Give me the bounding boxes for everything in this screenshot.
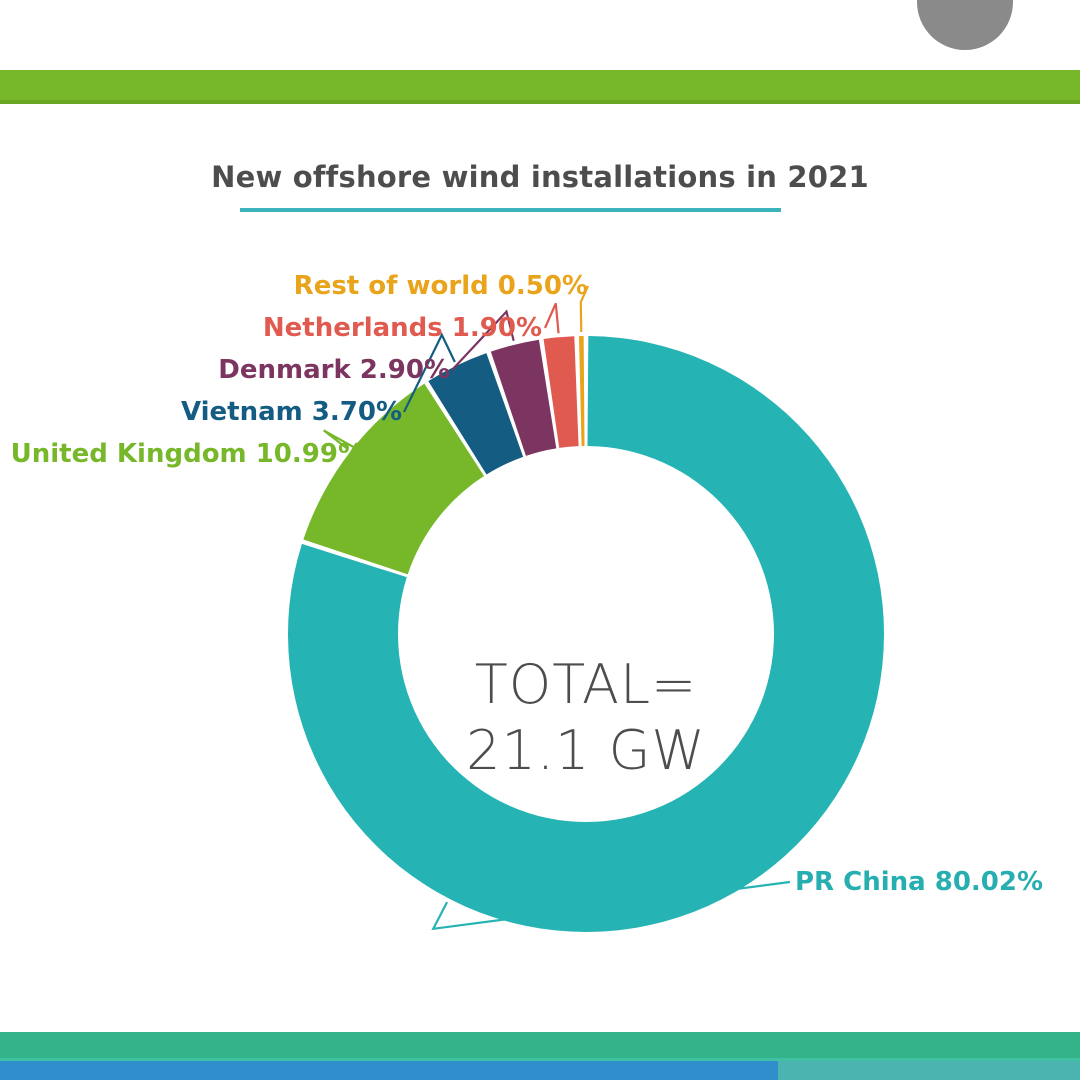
total-value: 21.1 GW bbox=[398, 718, 774, 784]
slice-label-rest-of-world: Rest of world 0.50% bbox=[294, 271, 588, 301]
bottom-teal-band bbox=[0, 1032, 1080, 1058]
slice-label-netherlands: Netherlands 1.90% bbox=[263, 313, 542, 343]
top-green-band bbox=[0, 70, 1080, 100]
slice-label-denmark: Denmark 2.90% bbox=[218, 355, 450, 385]
slice-label-vietnam: Vietnam 3.70% bbox=[181, 397, 402, 427]
slice-label-pr-china: PR China 80.02% bbox=[795, 867, 1043, 897]
slice-label-united-kingdom: United Kingdom 10.99% bbox=[11, 439, 364, 469]
chart-card: New offshore wind installations in 2021 … bbox=[0, 104, 1080, 1032]
donut-center-total: TOTAL= 21.1 GW bbox=[398, 652, 774, 784]
leader-line-netherlands bbox=[545, 303, 559, 333]
total-label: TOTAL= bbox=[398, 652, 774, 718]
donut-slice-rest-of-world bbox=[579, 336, 585, 446]
progress-bar-fill bbox=[0, 1061, 778, 1080]
